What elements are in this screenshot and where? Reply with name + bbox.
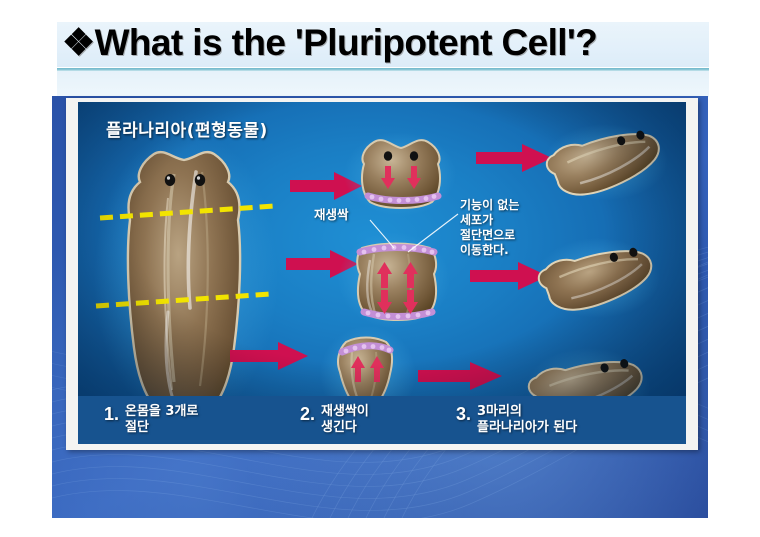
caption-1-line-2: 절단	[125, 420, 149, 435]
caption-step-2: 2.재생싹이생긴다	[300, 404, 369, 436]
caption-text-2: 재생싹이생긴다	[321, 404, 369, 436]
caption-step-1: 1.온몸을 3개로절단	[104, 404, 198, 436]
note-label: 기능이 없는 세포가 절단면으로 이동한다.	[460, 198, 519, 258]
caption-number-3: 3.	[456, 404, 471, 425]
caption-step-3: 3.3마리의플라나리아가 된다	[456, 404, 577, 436]
planaria-regeneration-figure: 플라나리아(편형동물) 재생싹 기능이 없는 세포가 절단면으로 이동한다. 1…	[78, 102, 686, 444]
caption-2-line-1: 재생싹이	[321, 404, 369, 419]
note-line-1: 기능이 없는	[460, 198, 519, 213]
caption-text-3: 3마리의플라나리아가 된다	[477, 404, 577, 436]
slide-canvas: ❖What is the 'Pluripotent Cell'?	[0, 0, 760, 537]
title-underlay	[57, 71, 709, 97]
caption-number-1: 1.	[104, 404, 119, 425]
caption-2-line-2: 생긴다	[321, 420, 357, 435]
figure-frame: 플라나리아(편형동물) 재생싹 기능이 없는 세포가 절단면으로 이동한다. 1…	[66, 98, 698, 450]
caption-number-2: 2.	[300, 404, 315, 425]
caption-3-line-2: 플라나리아가 된다	[477, 420, 577, 435]
caption-text-1: 온몸을 3개로절단	[125, 404, 198, 436]
note-line-2: 세포가	[460, 213, 519, 228]
caption-bar: 1.온몸을 3개로절단 2.재생싹이생긴다 3.3마리의플라나리아가 된다	[78, 396, 686, 444]
bud-label: 재생싹	[314, 204, 349, 223]
caption-3-line-1: 3마리의	[477, 404, 522, 419]
figure-illustration	[78, 102, 686, 444]
note-line-4: 이동한다.	[460, 243, 519, 258]
caption-1-line-1: 온몸을 3개로	[125, 404, 198, 419]
page-title: ❖What is the 'Pluripotent Cell'?	[62, 20, 722, 68]
figure-header: 플라나리아(편형동물)	[106, 116, 268, 141]
note-line-3: 절단면으로	[460, 228, 519, 243]
